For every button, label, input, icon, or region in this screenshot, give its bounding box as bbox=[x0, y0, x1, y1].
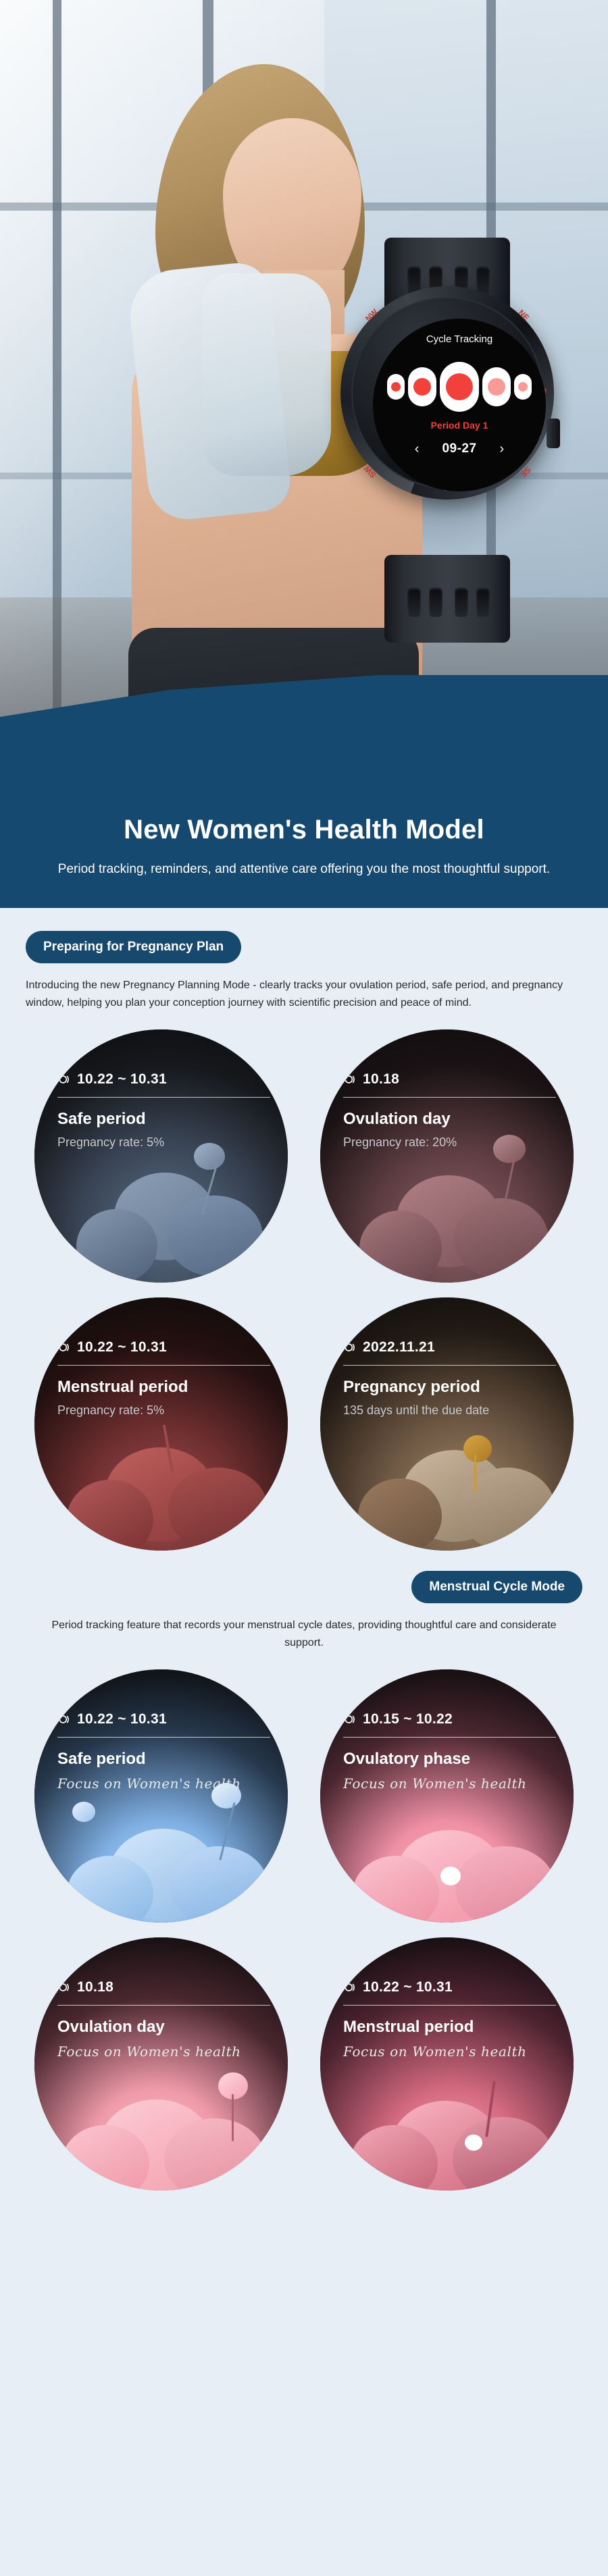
card-art-pink-flower bbox=[34, 1937, 288, 2191]
dial-title: Cycle Tracking bbox=[373, 333, 546, 345]
card-date-row: 2022.11.21 bbox=[343, 1339, 556, 1356]
card-date-row: 10.22 ~ 10.31 bbox=[343, 1979, 556, 1995]
card-text: 2022.11.21 Pregnancy period 135 days unt… bbox=[343, 1339, 556, 1418]
cycle-ring-icon bbox=[343, 1341, 357, 1354]
card-title: Ovulatory phase bbox=[343, 1750, 556, 1769]
card-title: Ovulation day bbox=[343, 1110, 556, 1129]
watch-card-pregnancy-period[interactable]: 2022.11.21 Pregnancy period 135 days unt… bbox=[320, 1297, 574, 1551]
card-subtitle: Pregnancy rate: 20% bbox=[343, 1135, 556, 1150]
strap-lug bbox=[407, 587, 421, 617]
card-subtitle: Pregnancy rate: 5% bbox=[57, 1403, 270, 1418]
card-art-lightblue-flower bbox=[34, 1669, 288, 1923]
hero-copy: New Women's Health Model Period tracking… bbox=[0, 815, 608, 908]
cycle-ring-icon bbox=[57, 1073, 71, 1086]
card-subtitle: 135 days until the due date bbox=[343, 1403, 556, 1418]
card-divider bbox=[57, 1365, 270, 1366]
card-date-row: 10.22 ~ 10.31 bbox=[57, 1071, 270, 1088]
card-art-mauve-flower bbox=[320, 1029, 574, 1283]
card-script-tagline: Focus on Women's health bbox=[57, 2043, 270, 2060]
bezel-mark-nw: NW bbox=[363, 307, 380, 323]
watch-bezel-inner: Cycle Tracking Period Day 1 ‹ 09-27 bbox=[351, 297, 543, 489]
cycle-dot-selected bbox=[440, 362, 479, 412]
hero-subtitle: Period tracking, reminders, and attentiv… bbox=[47, 860, 561, 880]
card-date-row: 10.22 ~ 10.31 bbox=[57, 1711, 270, 1727]
card-text: 10.22 ~ 10.31 Menstrual period Pregnancy… bbox=[57, 1339, 270, 1418]
card-slot: 10.18 Ovulation day Pregnancy rate: 20% bbox=[311, 1029, 582, 1283]
dial-date-value: 09-27 bbox=[442, 441, 476, 456]
card-slot: 10.18 Ovulation day Focus on Women's hea… bbox=[26, 1937, 297, 2191]
card-text: 10.22 ~ 10.31 Safe period Pregnancy rate… bbox=[57, 1071, 270, 1150]
hero-banner: NW NE SW SE E S Cycle Tracking bbox=[0, 0, 608, 908]
cycle-ring-icon bbox=[343, 1981, 357, 1994]
strap-lug bbox=[476, 587, 490, 617]
cycle-ring-icon bbox=[57, 1341, 71, 1354]
card-date-row: 10.22 ~ 10.31 bbox=[57, 1339, 270, 1356]
card-text: 10.18 Ovulation day Focus on Women's hea… bbox=[57, 1979, 270, 2060]
cycle-tag-row: Menstrual Cycle Mode bbox=[26, 1551, 582, 1603]
watch-strap-bottom bbox=[384, 555, 510, 643]
card-divider bbox=[57, 1097, 270, 1098]
card-title: Menstrual period bbox=[57, 1378, 270, 1397]
cycle-ring-icon bbox=[343, 1713, 357, 1726]
cycle-dot bbox=[514, 374, 532, 400]
watch-crown-button[interactable] bbox=[547, 419, 560, 448]
card-art-blue-flower bbox=[34, 1029, 288, 1283]
card-date: 10.15 ~ 10.22 bbox=[363, 1711, 453, 1727]
card-date: 10.18 bbox=[77, 1979, 113, 1995]
card-title: Pregnancy period bbox=[343, 1378, 556, 1397]
card-date: 10.22 ~ 10.31 bbox=[77, 1711, 167, 1727]
card-divider bbox=[343, 1365, 556, 1366]
model-towel-fold bbox=[203, 273, 331, 476]
card-slot: 10.15 ~ 10.22 Ovulatory phase Focus on W… bbox=[311, 1669, 582, 1923]
card-art-pink-flower bbox=[320, 1669, 574, 1923]
strap-lug bbox=[429, 587, 442, 617]
card-title: Safe period bbox=[57, 1110, 270, 1129]
card-slot: 2022.11.21 Pregnancy period 135 days unt… bbox=[311, 1297, 582, 1551]
cycle-ring-icon bbox=[57, 1713, 71, 1726]
card-slot: 10.22 ~ 10.31 Menstrual period Focus on … bbox=[311, 1937, 582, 2191]
card-date: 10.22 ~ 10.31 bbox=[77, 1339, 167, 1356]
card-script-tagline: Focus on Women's health bbox=[343, 2043, 556, 2060]
watch-card-safe-period[interactable]: 10.22 ~ 10.31 Safe period Pregnancy rate… bbox=[34, 1029, 288, 1283]
bezel-mark-sw: SW bbox=[362, 464, 378, 480]
product-page: NW NE SW SE E S Cycle Tracking bbox=[0, 0, 608, 2576]
menstrual-cycle-body: Period tracking feature that records you… bbox=[26, 1603, 582, 1652]
card-slot: 10.22 ~ 10.31 Menstrual period Pregnancy… bbox=[26, 1297, 297, 1551]
card-art-brown-flower bbox=[320, 1297, 574, 1551]
cycle-dot bbox=[482, 367, 511, 406]
next-day-arrow-icon[interactable]: › bbox=[500, 442, 505, 456]
card-divider bbox=[343, 2005, 556, 2006]
pregnancy-card-grid: 10.22 ~ 10.31 Safe period Pregnancy rate… bbox=[26, 1012, 582, 1551]
card-text: 10.15 ~ 10.22 Ovulatory phase Focus on W… bbox=[343, 1711, 556, 1792]
card-date-row: 10.18 bbox=[343, 1071, 556, 1088]
watch-screen[interactable]: Cycle Tracking Period Day 1 ‹ 09-27 bbox=[373, 319, 546, 491]
card-text: 10.18 Ovulation day Pregnancy rate: 20% bbox=[343, 1071, 556, 1150]
watch-bezel: NW NE SW SE E S Cycle Tracking bbox=[340, 286, 554, 500]
card-date: 10.22 ~ 10.31 bbox=[77, 1071, 167, 1088]
card-script-tagline: Focus on Women's health bbox=[57, 1775, 270, 1792]
dial-date-navigator: ‹ 09-27 › bbox=[373, 441, 546, 456]
period-status-text: Period Day 1 bbox=[373, 420, 546, 431]
card-divider bbox=[343, 1097, 556, 1098]
cycle-card-menstrual-period[interactable]: 10.22 ~ 10.31 Menstrual period Focus on … bbox=[320, 1937, 574, 2191]
pregnancy-plan-section: Preparing for Pregnancy Plan Introducing… bbox=[0, 908, 608, 1551]
card-slot: 10.22 ~ 10.31 Safe period Focus on Women… bbox=[26, 1669, 297, 1923]
cycle-card-ovulation-day[interactable]: 10.18 Ovulation day Focus on Women's hea… bbox=[34, 1937, 288, 2191]
card-divider bbox=[343, 1737, 556, 1738]
cycle-ring-icon bbox=[343, 1073, 357, 1086]
card-art-red-flower bbox=[34, 1297, 288, 1551]
card-divider bbox=[57, 2005, 270, 2006]
watch-card-ovulation-day[interactable]: 10.18 Ovulation day Pregnancy rate: 20% bbox=[320, 1029, 574, 1283]
card-date-row: 10.15 ~ 10.22 bbox=[343, 1711, 556, 1727]
card-text: 10.22 ~ 10.31 Safe period Focus on Women… bbox=[57, 1711, 270, 1792]
pregnancy-plan-tag: Preparing for Pregnancy Plan bbox=[26, 931, 241, 963]
cycle-dot-row bbox=[373, 362, 546, 412]
card-script-tagline: Focus on Women's health bbox=[343, 1775, 556, 1792]
strap-lug bbox=[455, 587, 468, 617]
watch-card-menstrual-period[interactable]: 10.22 ~ 10.31 Menstrual period Pregnancy… bbox=[34, 1297, 288, 1551]
card-date: 10.18 bbox=[363, 1071, 399, 1088]
cycle-card-grid: 10.22 ~ 10.31 Safe period Focus on Women… bbox=[26, 1652, 582, 2191]
card-title: Menstrual period bbox=[343, 2018, 556, 2037]
cycle-dot bbox=[408, 367, 436, 406]
pregnancy-tag-row: Preparing for Pregnancy Plan bbox=[26, 908, 582, 963]
card-text: 10.22 ~ 10.31 Menstrual period Focus on … bbox=[343, 1979, 556, 2060]
hero-title: New Women's Health Model bbox=[47, 815, 561, 845]
cycle-ring-icon bbox=[57, 1981, 71, 1994]
smartwatch: NW NE SW SE E S Cycle Tracking bbox=[336, 238, 559, 643]
menstrual-cycle-section: Menstrual Cycle Mode Period tracking fea… bbox=[0, 1551, 608, 2191]
pregnancy-plan-body: Introducing the new Pregnancy Planning M… bbox=[26, 963, 582, 1012]
bezel-mark-se: SE bbox=[518, 464, 532, 479]
prev-day-arrow-icon[interactable]: ‹ bbox=[415, 442, 420, 456]
card-date: 2022.11.21 bbox=[363, 1339, 435, 1356]
card-art-rose-flower bbox=[320, 1937, 574, 2191]
cycle-dot bbox=[387, 374, 405, 400]
menstrual-cycle-mode-tag: Menstrual Cycle Mode bbox=[411, 1571, 582, 1603]
card-title: Safe period bbox=[57, 1750, 270, 1769]
card-divider bbox=[57, 1737, 270, 1738]
card-slot: 10.22 ~ 10.31 Safe period Pregnancy rate… bbox=[26, 1029, 297, 1283]
cycle-card-safe-period[interactable]: 10.22 ~ 10.31 Safe period Focus on Women… bbox=[34, 1669, 288, 1923]
card-title: Ovulation day bbox=[57, 2018, 270, 2037]
card-subtitle: Pregnancy rate: 5% bbox=[57, 1135, 270, 1150]
card-date-row: 10.18 bbox=[57, 1979, 270, 1995]
bezel-mark-ne: NE bbox=[517, 308, 532, 323]
cycle-card-ovulatory-phase[interactable]: 10.15 ~ 10.22 Ovulatory phase Focus on W… bbox=[320, 1669, 574, 1923]
card-date: 10.22 ~ 10.31 bbox=[363, 1979, 453, 1995]
